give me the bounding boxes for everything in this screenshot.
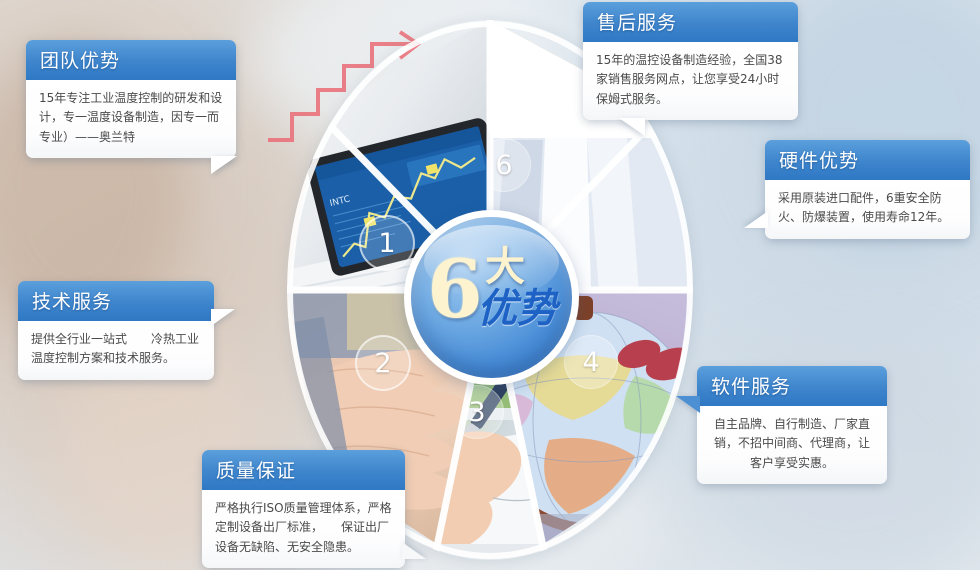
card-technical-service-body: 提供全行业一站式 冷热工业温度控制方案和技术服务。 <box>18 321 214 380</box>
card-pointer-tail <box>744 211 768 228</box>
card-software-service[interactable]: 软件服务 自主品牌、自行制造、厂家直销，不招中间商、代理商，让客户享受实惠。 <box>697 366 887 484</box>
card-software-service-title: 软件服务 <box>697 366 887 406</box>
center-hub: 6 大 优势 <box>404 210 579 385</box>
hub-advantage-text: 优势 <box>477 289 557 329</box>
card-quality-assurance-title: 质量保证 <box>202 450 405 490</box>
segment-number-2: 2 <box>374 350 391 377</box>
segment-number-badge-2: 2 <box>355 335 411 391</box>
card-hardware-advantage-title: 硬件优势 <box>765 140 970 180</box>
segment-number-badge-1: 1 <box>359 215 415 271</box>
card-hardware-advantage[interactable]: 硬件优势 采用原装进口配件，6重安全防火、防爆装置，使用寿命12年。 <box>765 140 970 239</box>
card-pointer-tail <box>619 118 645 136</box>
segment-number-6: 6 <box>495 152 512 179</box>
segment-number-4: 4 <box>582 349 599 376</box>
segment-number-1: 1 <box>378 230 395 257</box>
card-after-sales-service-title: 售后服务 <box>583 2 798 42</box>
card-pointer-tail <box>211 309 235 326</box>
hub-da-character: 大 <box>485 247 525 287</box>
infographic-canvas: INTC 1 <box>0 0 980 570</box>
card-pointer-tail <box>402 542 426 559</box>
hub-number-six: 6 <box>427 253 483 325</box>
card-team-advantage[interactable]: 团队优势 15年专注工业温度控制的研发和设计，专一温度设备制造，因专一而专业）—… <box>26 40 236 158</box>
card-team-advantage-body: 15年专注工业温度控制的研发和设计，专一温度设备制造，因专一而专业）——奥兰特 <box>26 80 236 158</box>
card-hardware-advantage-body: 采用原装进口配件，6重安全防火、防爆装置，使用寿命12年。 <box>765 180 970 239</box>
card-after-sales-service[interactable]: 售后服务 15年的温控设备制造经验，全国38家销售服务网点，让您享受24小时保姆… <box>583 2 798 120</box>
card-technical-service-title: 技术服务 <box>18 281 214 321</box>
segment-number-badge-4: 4 <box>564 335 618 389</box>
card-after-sales-service-body: 15年的温控设备制造经验，全国38家销售服务网点，让您享受24小时保姆式服务。 <box>583 42 798 120</box>
segment-number-3: 3 <box>468 399 485 426</box>
card-technical-service[interactable]: 技术服务 提供全行业一站式 冷热工业温度控制方案和技术服务。 <box>18 281 214 380</box>
card-software-service-body: 自主品牌、自行制造、厂家直销，不招中间商、代理商，让客户享受实惠。 <box>697 406 887 484</box>
card-quality-assurance-body: 严格执行ISO质量管理体系，严格定制设备出厂标准， 保证出厂设备无缺陷、无安全隐… <box>202 490 405 568</box>
card-team-advantage-title: 团队优势 <box>26 40 236 80</box>
card-pointer-tail <box>211 156 237 174</box>
card-quality-assurance[interactable]: 质量保证 严格执行ISO质量管理体系，严格定制设备出厂标准， 保证出厂设备无缺陷… <box>202 450 405 568</box>
center-hub-inner: 6 大 优势 <box>411 217 572 378</box>
card-pointer-tail <box>676 396 700 413</box>
